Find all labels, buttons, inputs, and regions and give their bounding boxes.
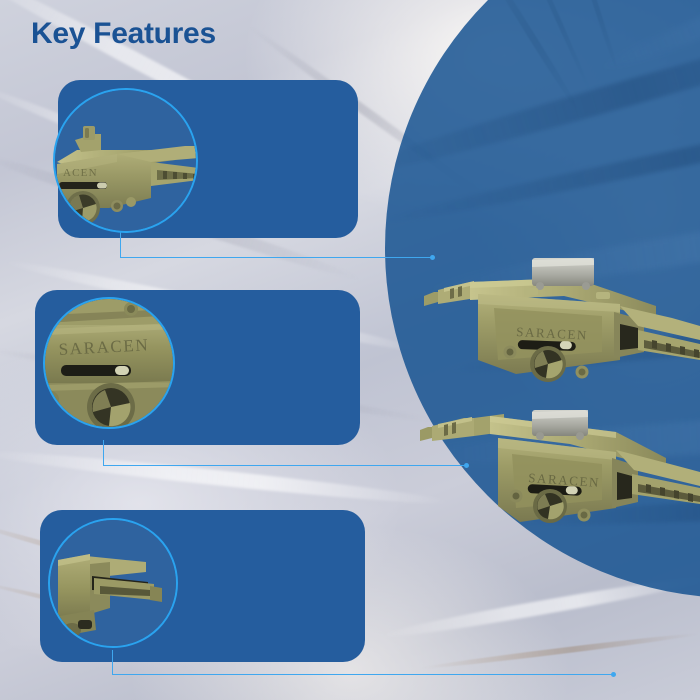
feature-thumbnail-branding xyxy=(48,518,178,648)
infographic-canvas: Key Features xyxy=(0,0,700,700)
product-image-lock-upper: SARACEN xyxy=(424,248,700,388)
saracen-gearbox-angle-image xyxy=(50,520,176,646)
product-image-lock-lower: SARACEN xyxy=(420,410,700,545)
saracen-stamp-closeup-image: SARACEN xyxy=(45,299,173,427)
saracen-gearbox-closeup-1-image: ACEN xyxy=(55,90,196,231)
feature-thumbnail-backsets: ACEN xyxy=(53,88,198,233)
page-title: Key Features xyxy=(31,17,216,51)
svg-text:ACEN: ACEN xyxy=(63,167,98,179)
feature-thumbnail-dimensions: SARACEN xyxy=(43,297,175,429)
